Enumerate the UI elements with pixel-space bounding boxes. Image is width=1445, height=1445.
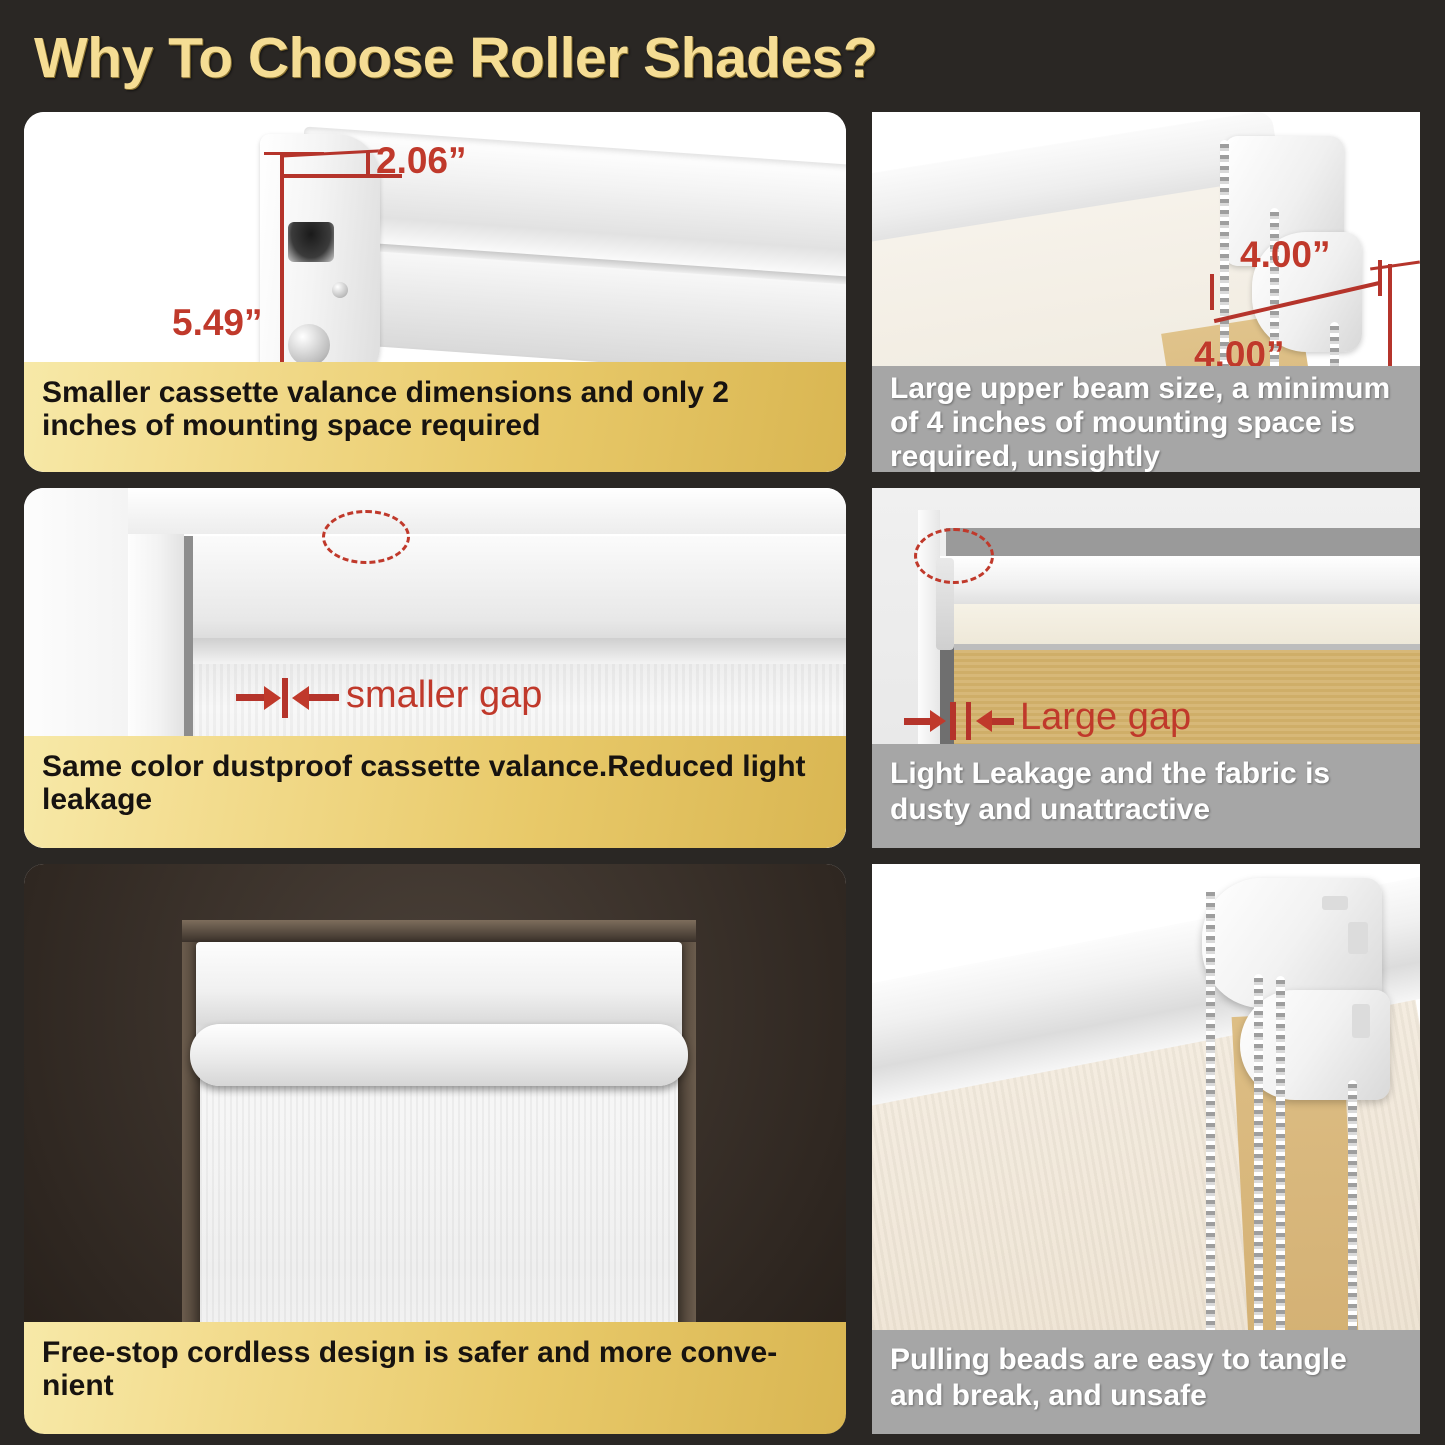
roller-slot-icon [288, 222, 334, 262]
panel-1: 2.06” 5.49” Smaller cassette valance dim… [24, 112, 846, 472]
panel-1-caption: Smaller cassette valance dimensions and … [24, 362, 846, 472]
panel-grid: 2.06” 5.49” Smaller cassette valance dim… [0, 108, 1445, 1438]
gap-marker-line [966, 702, 971, 740]
panel-4: Large gap Light Leakage and the fabric i… [872, 488, 1420, 848]
panel-2: 4.00” 4.00” Large upper beam size, a min… [872, 112, 1420, 472]
infographic-root: Why To Choose Roller Shades? 2.06” [0, 0, 1445, 1445]
width-dimension-label: 2.06” [376, 140, 467, 182]
gap-highlight-ellipse [914, 528, 994, 584]
dim-tick-top [264, 152, 324, 155]
page-title: Why To Choose Roller Shades? [34, 22, 1414, 94]
gap-marker-bar [282, 678, 288, 718]
valance-lower-lip [192, 638, 846, 664]
gap-arrow-right-head [292, 686, 309, 710]
gap-marker-line [950, 702, 956, 740]
panel-4-caption: Light Leakage and the fabric is dusty an… [872, 744, 1420, 848]
bracket-slot [1322, 896, 1348, 910]
panel-6-caption: Pulling beads are easy to tangle and bre… [872, 1330, 1420, 1434]
upper-beam-valance [940, 556, 1420, 608]
bracket-slot [1352, 1004, 1370, 1038]
gap-label: Large gap [1020, 696, 1191, 739]
panel-5: Free-stop cordless design is safer and m… [24, 864, 846, 1434]
dim-tick-right [366, 152, 370, 178]
gap-label: smaller gap [346, 674, 542, 717]
gap-highlight-ellipse [322, 510, 410, 564]
window-header [182, 920, 696, 942]
bracket-slot [1348, 922, 1368, 954]
width-dimension-label: 4.00” [1240, 234, 1331, 276]
gap-arrow-left-head [930, 710, 946, 732]
screw-icon [332, 282, 348, 298]
panel-2-caption: Large upper beam size, a minimum of 4 in… [872, 366, 1420, 472]
gap-arrow-right-shaft [309, 694, 339, 701]
gap-arrow-left-head [264, 686, 281, 710]
panel-5-caption: Free-stop cordless design is safer and m… [24, 1322, 846, 1434]
dim-tick-left [1210, 274, 1214, 310]
panel-3-caption: Same color dustproof cassette valance.Re… [24, 736, 846, 848]
cream-fabric-band [944, 604, 1420, 646]
gap-arrow-right-head [976, 710, 992, 732]
gap-arrow-left-shaft [904, 718, 932, 725]
height-dimension-label: 5.49” [172, 302, 263, 344]
panel-6: Pulling beads are easy to tangle and bre… [872, 864, 1420, 1434]
valance-end-cap [260, 134, 380, 384]
valance-front-roll [190, 1024, 688, 1086]
screw-icon [288, 324, 330, 366]
gap-arrow-right-shaft [992, 718, 1014, 725]
mounting-bracket-upper [1202, 878, 1382, 1008]
panel-3: smaller gap Same color dustproof cassett… [24, 488, 846, 848]
window-frame-top [124, 488, 846, 534]
